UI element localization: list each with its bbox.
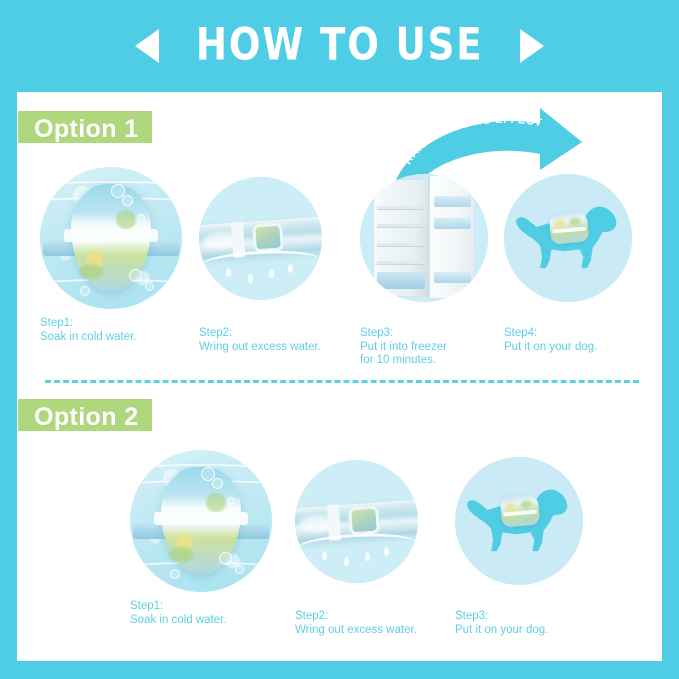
page-title: HOW TO USE xyxy=(196,22,484,70)
gel-blob xyxy=(520,500,532,509)
bubble-icon xyxy=(227,497,235,505)
fridge-shelf xyxy=(377,224,425,227)
step-image-soak xyxy=(40,167,182,309)
refrigerator-door xyxy=(429,175,475,299)
step-title: Step2: xyxy=(199,327,359,341)
step-title: Step1: xyxy=(130,600,285,614)
gel-blob xyxy=(206,493,227,512)
option-2-label: Option 2 xyxy=(18,399,152,431)
vest-band xyxy=(64,229,158,242)
section-divider xyxy=(45,380,639,383)
vest-strap-right xyxy=(235,524,269,540)
door-bin xyxy=(434,196,471,207)
step-image-soak xyxy=(130,450,272,592)
option1-step-2: Step2: Wring out excess water. xyxy=(199,177,359,354)
step-title: Step3: xyxy=(360,327,510,341)
bubble-icon xyxy=(137,214,145,222)
option2-step-3: Step3: Put it on your dog. xyxy=(455,457,605,637)
step-image-freezer xyxy=(360,174,488,302)
fridge-shelf xyxy=(377,261,425,264)
gel-blob xyxy=(506,503,517,511)
door-bin xyxy=(434,218,471,229)
gel-blob xyxy=(555,220,566,228)
step-image-wring xyxy=(199,177,322,300)
door-bin xyxy=(434,272,471,283)
refrigerator-cabinet xyxy=(373,179,429,297)
step-text: Wring out excess water. xyxy=(199,341,359,355)
water-drop-icon xyxy=(288,264,293,273)
gel-blob xyxy=(569,217,581,226)
raise-cooling-effect-callout: RAISE COOLING EFFECT xyxy=(380,106,595,184)
step-title: Step1: xyxy=(40,317,195,331)
gel-blob xyxy=(79,264,103,279)
vest-band xyxy=(154,512,248,525)
bubble-icon xyxy=(201,467,215,481)
step-text: Wring out excess water. xyxy=(295,624,455,638)
vest-strap-right xyxy=(145,241,179,257)
step-title: Step3: xyxy=(455,610,605,624)
water-drop-icon xyxy=(322,551,327,560)
curved-arrow-icon: RAISE COOLING EFFECT xyxy=(380,106,595,184)
header-banner: HOW TO USE xyxy=(0,0,679,92)
content-panel: Option 1 RAISE COOLING EFFECT xyxy=(17,92,662,661)
bubble-icon xyxy=(170,569,180,579)
step-text: Put it on your dog. xyxy=(455,624,605,638)
water-drop-icon xyxy=(226,268,231,277)
option-1-label: Option 1 xyxy=(18,111,152,143)
step-image-wring xyxy=(295,460,418,583)
vest-gel-pocket xyxy=(347,505,379,535)
cooling-vest-on-dog xyxy=(500,494,541,528)
triangle-right-icon xyxy=(520,29,544,63)
step-text: Soak in cold water. xyxy=(40,331,195,345)
step-image-dog xyxy=(455,457,583,585)
how-to-use-infographic: HOW TO USE Option 1 RAISE COOLING EFFECT xyxy=(0,0,679,679)
step-title: Step4: xyxy=(504,327,654,341)
option1-step-1: Step1: Soak in cold water. xyxy=(40,167,195,344)
svg-text:RAISE COOLING EFFECT: RAISE COOLING EFFECT xyxy=(402,114,543,167)
option2-step-1: Step1: Soak in cold water. xyxy=(130,450,285,627)
vest-band xyxy=(503,510,537,517)
gel-blob xyxy=(169,547,193,562)
triangle-left-icon xyxy=(135,29,159,63)
callout-text: RAISE COOLING EFFECT xyxy=(402,114,543,167)
step-text: Put it into freezer for 10 minutes. xyxy=(360,341,510,368)
option2-step-2: Step2: Wring out excess water. xyxy=(295,460,455,637)
cooling-vest-on-dog xyxy=(549,211,590,245)
step-text: Soak in cold water. xyxy=(130,614,285,628)
vest-gel-pocket xyxy=(251,222,283,252)
bubble-icon xyxy=(80,286,90,296)
water-drop-icon xyxy=(384,547,389,556)
vest-band xyxy=(552,227,586,234)
step-text: Put it on your dog. xyxy=(504,341,654,355)
step-title: Step2: xyxy=(295,610,455,624)
gel-blob xyxy=(116,210,137,229)
bubble-icon xyxy=(111,184,125,198)
option1-step-4: Step4: Put it on your dog. xyxy=(504,174,654,354)
fridge-shelf xyxy=(377,206,425,209)
option1-step-3: Step3: Put it into freezer for 10 minute… xyxy=(360,174,510,368)
fridge-crisper-drawer xyxy=(377,272,425,289)
fridge-shelf xyxy=(377,243,425,246)
step-image-dog xyxy=(504,174,632,302)
